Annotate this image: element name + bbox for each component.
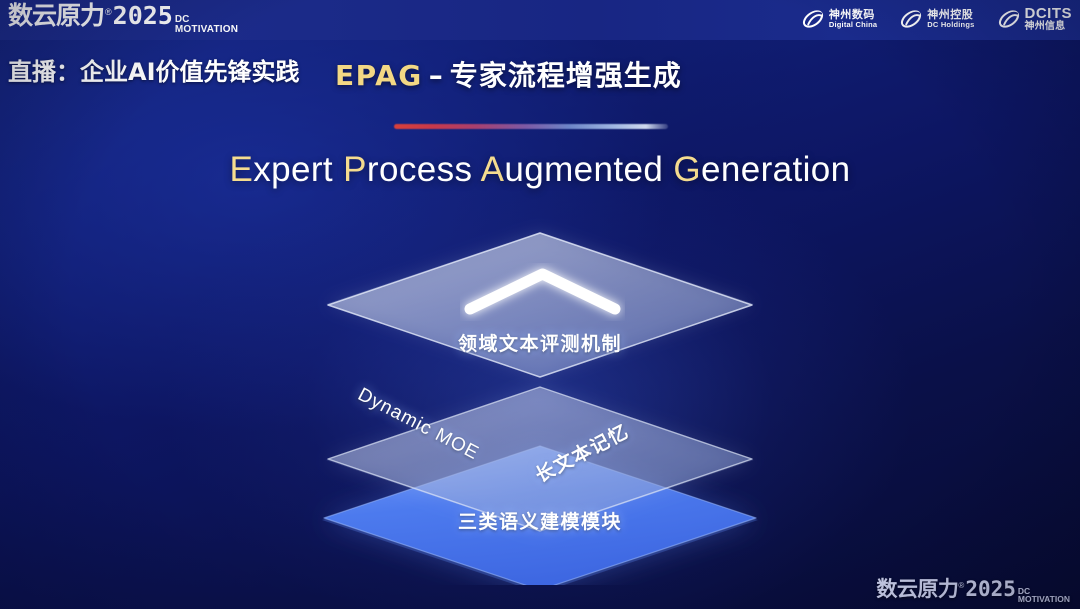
footer-brand-watermark: 数云原力 ® 2025 DC MOTIVATION <box>876 579 1070 605</box>
subtitle-part-6: G <box>673 150 701 189</box>
footer-brand-name-cn: 数云原力 <box>876 579 958 600</box>
footer-motivation: MOTIVATION <box>1018 595 1070 603</box>
footer-dc-motivation: DC MOTIVATION <box>1018 587 1070 603</box>
layered-diagram: 领域文本评测机制 Dynamic MOE 长文本记忆 三类语义建模模块 <box>290 215 790 585</box>
footer-registered-mark: ® <box>958 581 964 590</box>
partner-digital-china: 神州数码 Digital China <box>801 7 877 31</box>
layer-label-top: 领域文本评测机制 <box>290 329 790 356</box>
partner-label: 神州控股 DC Holdings <box>927 9 974 28</box>
title-dash: – <box>429 59 444 92</box>
title-acronym: EPAG <box>335 59 423 92</box>
partner-dcits: DCITS 神州信息 <box>997 6 1073 32</box>
partner-name-cn: DCITS <box>1025 6 1073 22</box>
brand-motivation: MOTIVATION <box>175 25 238 35</box>
page-subtitle: Expert Process Augmented Generation <box>0 150 1080 190</box>
live-stream-title: 直播：企业AI价值先锋实践 <box>8 52 300 87</box>
brand-name-cn: 数云原力 <box>8 3 104 28</box>
subtitle-part-1: xpert <box>253 150 343 189</box>
subtitle-part-0: E <box>229 150 253 189</box>
brand-dc-motivation: DC MOTIVATION <box>175 15 238 34</box>
slide-canvas: 数云原力 ® 2025 DC MOTIVATION 神州数码 Digital C… <box>0 0 1080 609</box>
partner-label: 神州数码 Digital China <box>829 9 877 28</box>
footer-brand-year: 2025 <box>965 579 1016 600</box>
subtitle-part-5: ugmented <box>504 150 673 189</box>
layer-label-bottom: 三类语义建模模块 <box>290 507 790 534</box>
partner-name-en: 神州信息 <box>1025 22 1073 33</box>
subtitle-part-7: eneration <box>701 150 851 189</box>
subtitle-part-3: rocess <box>367 150 481 189</box>
subtitle-part-4: A <box>481 150 505 189</box>
partner-name-en: DC Holdings <box>927 21 974 29</box>
title-main-cn: 专家流程增强生成 <box>450 59 682 92</box>
page-title: EPAG–专家流程增强生成 <box>335 54 682 94</box>
partner-label: DCITS 神州信息 <box>1025 6 1073 32</box>
swirl-logo-icon <box>997 7 1021 31</box>
swirl-logo-icon <box>899 7 923 31</box>
brand-registered-mark: ® <box>105 7 112 17</box>
partner-name-en: Digital China <box>829 21 877 29</box>
brand-logo: 数云原力 ® 2025 DC MOTIVATION <box>8 3 238 36</box>
partner-dc-holdings: 神州控股 DC Holdings <box>899 7 974 31</box>
accent-gradient-bar <box>394 124 668 129</box>
subtitle-part-2: P <box>343 150 367 189</box>
chevron-up-icon <box>460 263 625 321</box>
partner-logos: 神州数码 Digital China 神州控股 DC Holdings <box>801 6 1072 32</box>
brand-year: 2025 <box>113 3 173 28</box>
swirl-logo-icon <box>801 7 825 31</box>
